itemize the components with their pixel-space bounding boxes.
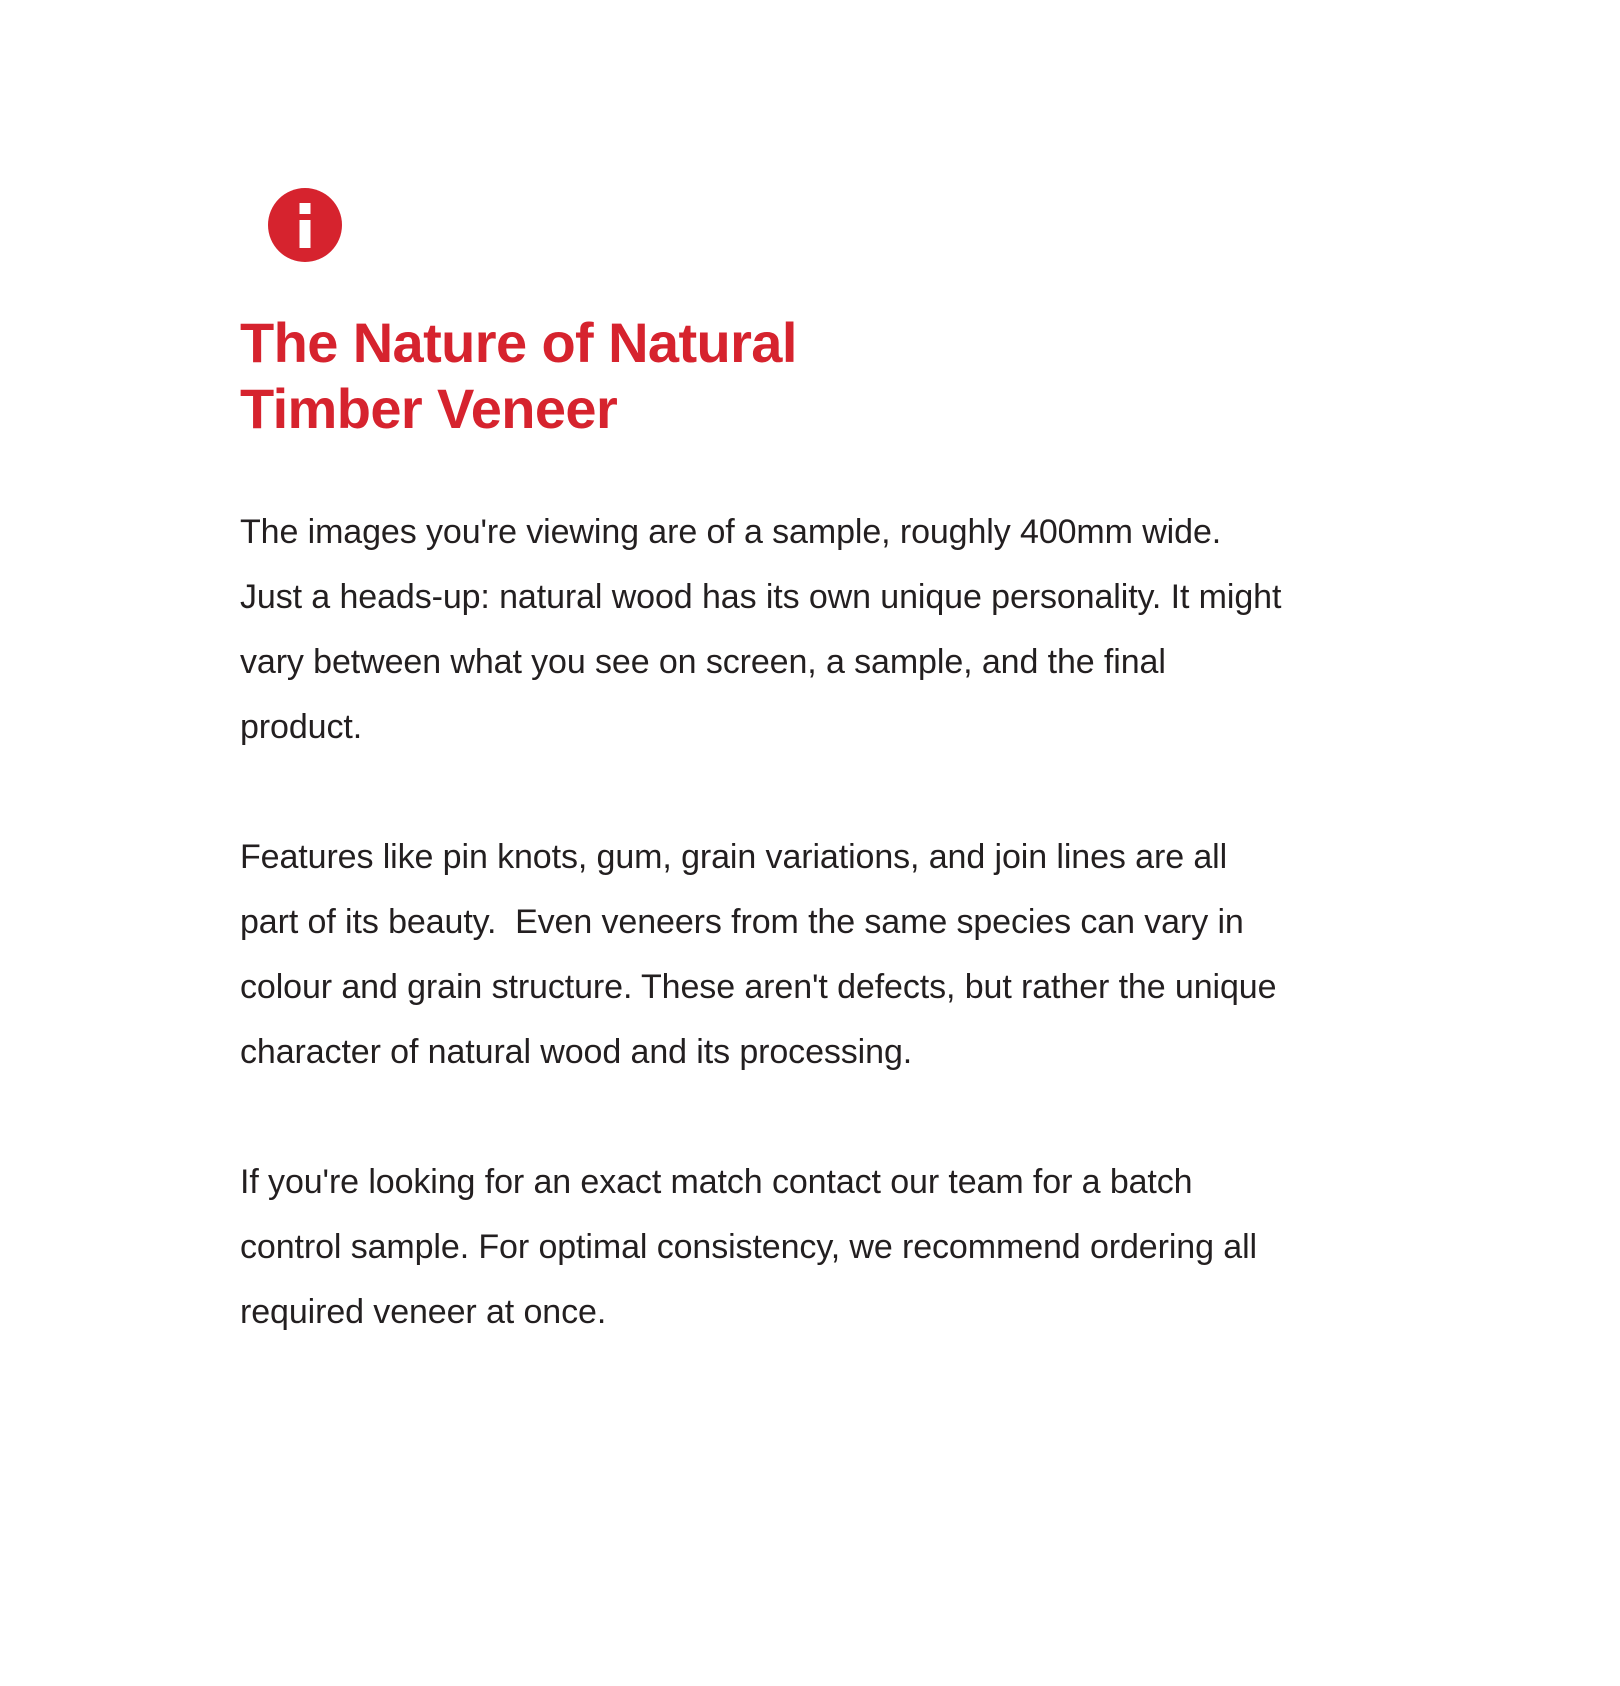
page-title-line-1: The Nature of Natural (240, 310, 1000, 376)
body-paragraph-1: The images you're viewing are of a sampl… (240, 500, 1285, 760)
info-icon-dot (300, 203, 311, 214)
body-copy: The images you're viewing are of a sampl… (240, 500, 1285, 1345)
content-column: The Nature of Natural Timber Veneer The … (240, 160, 1340, 1345)
body-paragraph-3: If you're looking for an exact match con… (240, 1150, 1285, 1345)
info-icon (268, 188, 342, 262)
body-paragraph-2: Features like pin knots, gum, grain vari… (240, 825, 1285, 1085)
page-title: The Nature of Natural Timber Veneer (240, 310, 1000, 442)
info-panel: The Nature of Natural Timber Veneer The … (0, 0, 1620, 1686)
page-title-line-2: Timber Veneer (240, 376, 1000, 442)
info-icon-stem (300, 220, 311, 248)
